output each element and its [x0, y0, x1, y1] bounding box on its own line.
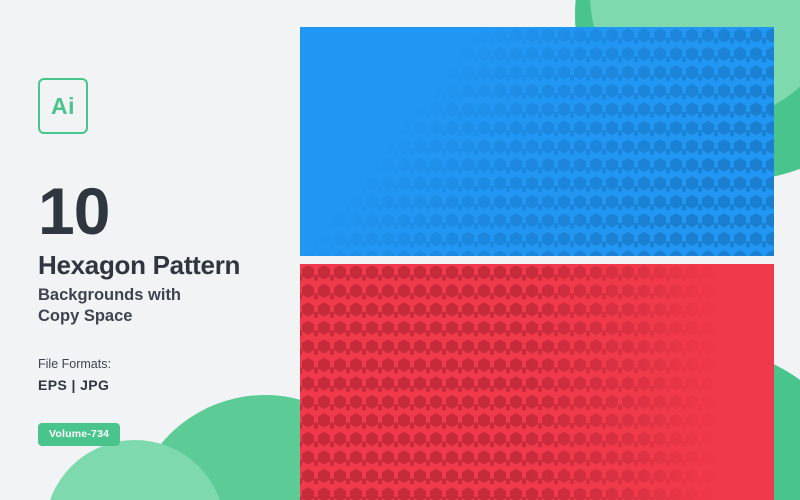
blue-hexagon-preview[interactable]: [300, 27, 774, 256]
red-hexagon-preview[interactable]: [300, 264, 774, 500]
item-count: 10: [38, 180, 288, 243]
poster-canvas: Ai 10 Hexagon Pattern Backgrounds with C…: [0, 0, 800, 500]
page-title: Hexagon Pattern: [38, 251, 288, 280]
blue-hexagon-pattern-graphic: [300, 27, 774, 256]
page-subtitle-line-1: Backgrounds with: [38, 285, 288, 306]
adobe-illustrator-badge: Ai: [38, 78, 88, 134]
page-subtitle-line-2: Copy Space: [38, 306, 288, 327]
volume-badge: Volume-734: [38, 423, 120, 446]
adobe-illustrator-badge-label: Ai: [51, 93, 75, 120]
file-formats-label: File Formats:: [38, 357, 288, 371]
file-formats-value: EPS | JPG: [38, 377, 288, 393]
info-column: Ai 10 Hexagon Pattern Backgrounds with C…: [38, 78, 288, 446]
red-hexagon-pattern-graphic: [300, 264, 774, 500]
